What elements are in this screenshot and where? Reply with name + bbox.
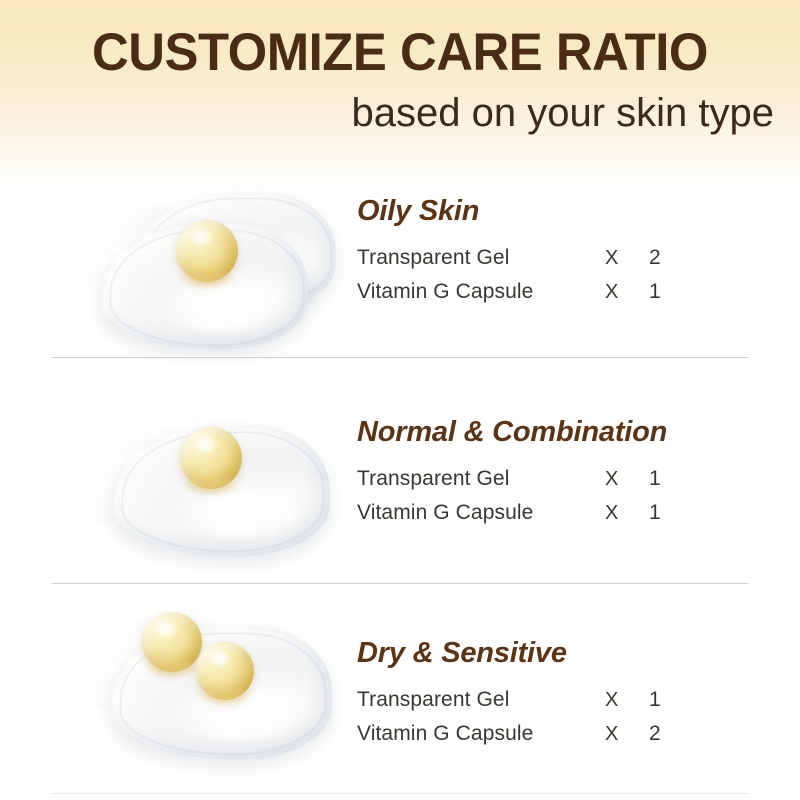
ingredient-row: Transparent Gel X 1 <box>357 683 757 717</box>
ingredient-label: Transparent Gel <box>357 241 509 275</box>
ingredient-quantity: 1 <box>649 496 661 530</box>
ingredient-row: Vitamin G Capsule X 1 <box>357 496 757 530</box>
multiplier-symbol: X <box>605 462 618 496</box>
care-ratio-infographic: CUSTOMIZE CARE RATIO based on your skin … <box>0 0 800 800</box>
ingredient-label: Transparent Gel <box>357 683 509 717</box>
multiplier-symbol: X <box>605 717 618 751</box>
skin-type-heading: Oily Skin <box>357 194 757 228</box>
vitamin-capsule <box>180 427 242 489</box>
section-divider <box>52 357 748 358</box>
ingredient-label: Vitamin G Capsule <box>357 496 533 530</box>
ingredient-row: Vitamin G Capsule X 1 <box>357 275 757 309</box>
header: CUSTOMIZE CARE RATIO based on your skin … <box>0 0 800 160</box>
ingredient-label: Vitamin G Capsule <box>357 275 533 309</box>
multiplier-symbol: X <box>605 683 618 717</box>
info-block-oily: Oily Skin Transparent Gel X 2 Vitamin G … <box>357 194 757 309</box>
product-visual-normal <box>48 395 348 595</box>
skin-type-section-oily: Oily Skin Transparent Gel X 2 Vitamin G … <box>0 178 800 383</box>
ingredient-row: Transparent Gel X 1 <box>357 462 757 496</box>
ingredient-list: Transparent Gel X 1 Vitamin G Capsule X … <box>357 683 757 751</box>
multiplier-symbol: X <box>605 496 618 530</box>
ingredient-quantity: 2 <box>649 717 661 751</box>
vitamin-capsule <box>176 220 238 282</box>
gel-stage <box>48 600 348 800</box>
ingredient-label: Transparent Gel <box>357 462 509 496</box>
info-block-normal: Normal & Combination Transparent Gel X 1… <box>357 415 757 530</box>
multiplier-symbol: X <box>605 275 618 309</box>
gel-stage <box>48 178 348 378</box>
product-visual-oily <box>48 178 348 378</box>
multiplier-symbol: X <box>605 241 618 275</box>
vitamin-capsule <box>196 642 254 700</box>
skin-type-section-normal: Normal & Combination Transparent Gel X 1… <box>0 395 800 600</box>
ingredient-quantity: 2 <box>649 241 661 275</box>
info-block-dry: Dry & Sensitive Transparent Gel X 1 Vita… <box>357 636 757 751</box>
skin-type-heading: Normal & Combination <box>357 415 757 449</box>
ingredient-quantity: 1 <box>649 683 661 717</box>
product-visual-dry <box>48 600 348 800</box>
section-divider <box>52 583 748 584</box>
ingredient-quantity: 1 <box>649 462 661 496</box>
vitamin-capsule <box>142 612 202 672</box>
ingredient-label: Vitamin G Capsule <box>357 717 533 751</box>
gel-stage <box>48 395 348 595</box>
skin-type-heading: Dry & Sensitive <box>357 636 757 670</box>
page-subtitle: based on your skin type <box>352 89 774 137</box>
section-divider-bottom <box>52 793 748 794</box>
page-title: CUSTOMIZE CARE RATIO <box>16 24 784 82</box>
ingredient-list: Transparent Gel X 1 Vitamin G Capsule X … <box>357 462 757 530</box>
skin-type-section-dry: Dry & Sensitive Transparent Gel X 1 Vita… <box>0 600 800 800</box>
ingredient-row: Transparent Gel X 2 <box>357 241 757 275</box>
ingredient-quantity: 1 <box>649 275 661 309</box>
ingredient-row: Vitamin G Capsule X 2 <box>357 717 757 751</box>
ingredient-list: Transparent Gel X 2 Vitamin G Capsule X … <box>357 241 757 309</box>
